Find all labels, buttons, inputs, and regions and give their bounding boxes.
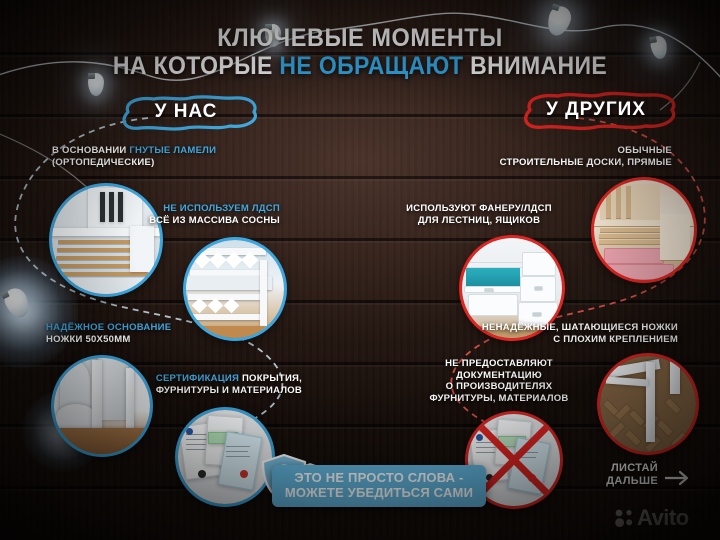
caption-certification-accent: СЕРТИФИКАЦИЯ bbox=[156, 373, 239, 384]
caption-certification-plain2: ФУРНИТУРЫ И МАТЕРИАЛОВ bbox=[156, 385, 302, 396]
caption-bent-slats: В ОСНОВАНИИ ГНУТЫЕ ЛАМЕЛИ (ОРТОПЕДИЧЕСКИ… bbox=[52, 145, 282, 168]
caption-plywood-line2: ДЛЯ ЛЕСТНИЦ, ЯЩИКОВ bbox=[418, 215, 540, 226]
caption-plain-boards: ОБЫЧНЫЕ СТРОИТЕЛЬНЫЕ ДОСКИ, ПРЯМЫЕ bbox=[438, 145, 672, 168]
badge-others-side-label: У ДРУГИХ bbox=[546, 99, 646, 121]
caption-no-ldsp: НЕ ИСПОЛЬЗУЕМ ЛДСП ВСЁ ИЗ МАССИВА СОСНЫ bbox=[110, 203, 280, 226]
caption-plain-boards-line1: ОБЫЧНЫЕ bbox=[618, 145, 672, 156]
caption-certification-plain1: ПОКРЫТИЯ, bbox=[239, 373, 302, 384]
swipe-line-2: ДАЛЬШЕ bbox=[606, 475, 658, 487]
title-line-1: КЛЮЧЕВЫЕ МОМЕНТЫ bbox=[22, 26, 699, 52]
caption-wobbly-line2: С ПЛОХИМ КРЕПЛЕНИЕМ bbox=[553, 334, 678, 345]
swipe-hint: ЛИСТАЙ ДАЛЬШЕ bbox=[592, 462, 658, 487]
title-line-2-part2: ВНИМАНИЕ bbox=[463, 52, 607, 80]
photo-image bbox=[600, 356, 696, 452]
badge-our-side-label: У НАС bbox=[155, 101, 218, 123]
swipe-line-1: ЛИСТАЙ bbox=[611, 462, 658, 474]
caption-bent-slats-accent: ГНУТЫЕ ЛАМЕЛИ bbox=[129, 145, 216, 156]
photo-thin-leg-parquet bbox=[600, 356, 696, 452]
badge-others-side: У ДРУГИХ bbox=[508, 86, 684, 134]
caption-bent-slats-italic: (ОРТОПЕДИЧЕСКИЕ) bbox=[52, 157, 154, 168]
caption-no-documents: НЕ ПРЕДОСТАВЛЯЮТ ДОКУМЕНТАЦИЮ О ПРОИЗВОД… bbox=[398, 358, 600, 404]
caption-certification: СЕРТИФИКАЦИЯ ПОКРЫТИЯ, ФУРНИТУРЫ И МАТЕР… bbox=[120, 373, 302, 396]
cta-line-1: ЭТО НЕ ПРОСТО СЛОВА - bbox=[294, 470, 463, 485]
cta-banner-text: ЭТО НЕ ПРОСТО СЛОВА - МОЖЕТЕ УБЕДИТЬСЯ С… bbox=[285, 471, 473, 500]
caption-reliable-base-plain: НОЖКИ 50Х50ММ bbox=[46, 334, 131, 345]
avito-brand: Avito bbox=[614, 505, 689, 531]
cta-banner[interactable]: ЭТО НЕ ПРОСТО СЛОВА - МОЖЕТЕ УБЕДИТЬСЯ С… bbox=[272, 465, 486, 507]
avito-wordmark: Avito bbox=[637, 505, 689, 531]
caption-reliable-base: НАДЁЖНОЕ ОСНОВАНИЕ НОЖКИ 50Х50ММ bbox=[46, 322, 256, 345]
arrow-right-icon bbox=[664, 470, 692, 486]
caption-reliable-base-accent: НАДЁЖНОЕ ОСНОВАНИЕ bbox=[46, 322, 171, 333]
cta-line-2: МОЖЕТЕ УБЕДИТЬСЯ САМИ bbox=[285, 485, 473, 500]
title-line-2-part1: НА КОТОРЫЕ bbox=[113, 52, 280, 80]
infographic-canvas: КЛЮЧЕВЫЕ МОМЕНТЫ НА КОТОРЫЕ НЕ ОБРАЩАЮТ … bbox=[0, 0, 720, 540]
caption-wobbly-legs: НЕНАДЁЖНЫЕ, ШАТАЮЩИЕСЯ НОЖКИ С ПЛОХИМ КР… bbox=[440, 322, 678, 345]
caption-plywood-line1: ИСПОЛЬЗУЮТ ФАНЕРУ/ЛДСП bbox=[406, 203, 552, 214]
caption-no-ldsp-plain: ВСЁ ИЗ МАССИВА СОСНЫ bbox=[149, 215, 280, 226]
photo-pink-drawer-bed bbox=[594, 180, 694, 280]
title-line-2: НА КОТОРЫЕ НЕ ОБРАЩАЮТ ВНИМАНИЕ bbox=[29, 53, 691, 79]
title-line-2-highlight: НЕ ОБРАЩАЮТ bbox=[279, 52, 463, 80]
caption-nodocs-line2: ДОКУМЕНТАЦИЮ bbox=[456, 370, 542, 381]
caption-bent-slats-plain: В ОСНОВАНИИ bbox=[52, 145, 129, 156]
caption-no-ldsp-accent: НЕ ИСПОЛЬЗУЕМ ЛДСП bbox=[163, 203, 280, 214]
badge-our-side: У НАС bbox=[108, 90, 264, 134]
caption-nodocs-line1: НЕ ПРЕДОСТАВЛЯЮТ bbox=[445, 358, 553, 369]
avito-dots-icon bbox=[614, 508, 634, 528]
photo-image bbox=[594, 180, 694, 280]
caption-plywood-ldsp: ИСПОЛЬЗУЮТ ФАНЕРУ/ЛДСП ДЛЯ ЛЕСТНИЦ, ЯЩИК… bbox=[374, 203, 584, 226]
caption-wobbly-line1: НЕНАДЁЖНЫЕ, ШАТАЮЩИЕСЯ НОЖКИ bbox=[482, 322, 678, 333]
page-title: КЛЮЧЕВЫЕ МОМЕНТЫ НА КОТОРЫЕ НЕ ОБРАЩАЮТ … bbox=[0, 26, 720, 79]
caption-plain-boards-line2: СТРОИТЕЛЬНЫЕ ДОСКИ, ПРЯМЫЕ bbox=[500, 157, 672, 168]
light-bulb bbox=[1, 285, 33, 321]
caption-nodocs-line4: ФУРНИТУРЫ, МАТЕРИАЛОВ bbox=[429, 393, 568, 404]
caption-nodocs-line3: О ПРОИЗВОДИТЕЛЯХ bbox=[446, 381, 553, 392]
